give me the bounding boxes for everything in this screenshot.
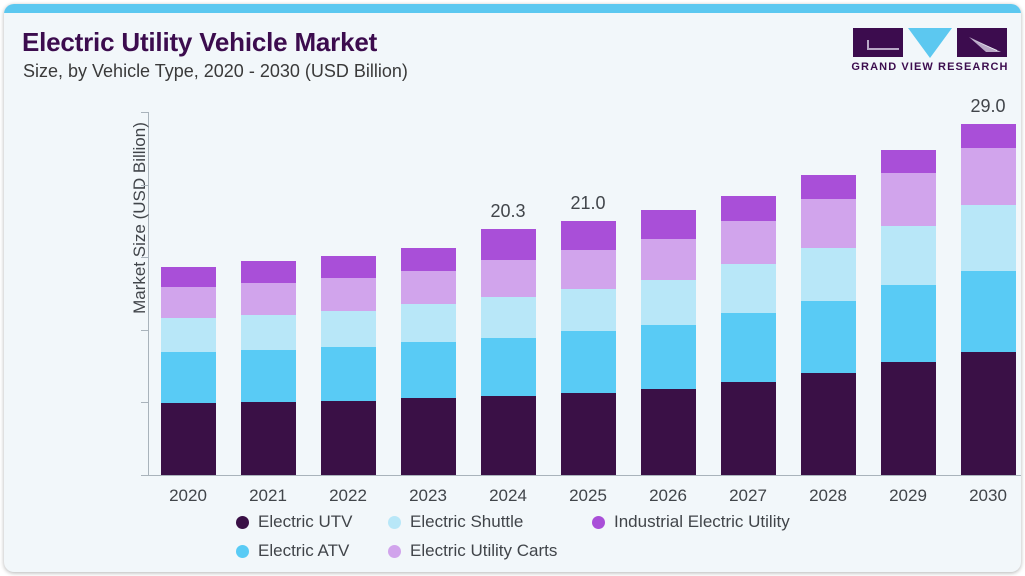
y-tick-mark <box>141 475 148 476</box>
y-tick-mark <box>141 185 148 186</box>
bar-segment[interactable] <box>881 285 936 362</box>
legend-label: Electric UTV <box>258 512 352 532</box>
y-axis-title: Market Size (USD Billion) <box>130 108 150 328</box>
bar-stack[interactable] <box>801 175 856 475</box>
bar-segment[interactable] <box>641 280 696 325</box>
bar-segment[interactable] <box>961 205 1016 270</box>
legend-label: Electric Shuttle <box>410 512 523 532</box>
logo-triangle-icon <box>908 28 952 58</box>
bar-segment[interactable] <box>801 199 856 247</box>
legend-color-swatch-icon <box>388 516 401 529</box>
legend-label: Industrial Electric Utility <box>614 512 790 532</box>
legend-item[interactable]: Electric ATV <box>236 541 349 561</box>
bar-segment[interactable] <box>961 271 1016 352</box>
legend-color-swatch-icon <box>236 516 249 529</box>
bar-segment[interactable] <box>161 403 216 475</box>
bar-stack[interactable] <box>401 248 456 475</box>
logo-arrow-icon <box>957 28 1007 57</box>
chart-plot-area: Market Size (USD Billion) 0.06.012.018.0… <box>148 112 1021 476</box>
x-tick-label: 2029 <box>868 486 948 506</box>
x-tick-label: 2026 <box>628 486 708 506</box>
page-title: Electric Utility Vehicle Market <box>22 27 377 58</box>
bar-segment[interactable] <box>321 347 376 400</box>
bar-segment[interactable] <box>241 350 296 402</box>
bar-segment[interactable] <box>721 196 776 221</box>
bar-segment[interactable] <box>641 210 696 239</box>
bar-segment[interactable] <box>401 248 456 271</box>
top-accent-bar <box>4 4 1021 13</box>
bar-segment[interactable] <box>161 318 216 352</box>
x-tick-label: 2028 <box>788 486 868 506</box>
x-tick-label: 2022 <box>308 486 388 506</box>
bar-segment[interactable] <box>721 313 776 382</box>
bar-segment[interactable] <box>561 221 616 250</box>
bar-segment[interactable] <box>161 352 216 403</box>
x-tick-label: 2027 <box>708 486 788 506</box>
bar-segment[interactable] <box>801 248 856 301</box>
bar-segment[interactable] <box>801 301 856 374</box>
legend-color-swatch-icon <box>592 516 605 529</box>
bar-segment[interactable] <box>961 148 1016 205</box>
logo-text: GRAND VIEW RESEARCH <box>851 61 1009 73</box>
legend-item[interactable]: Electric Utility Carts <box>388 541 557 561</box>
bar-segment[interactable] <box>401 304 456 342</box>
legend-label: Electric Utility Carts <box>410 541 557 561</box>
logo-left-mark-horizontal <box>867 48 899 50</box>
bar-stack[interactable] <box>561 221 616 475</box>
bar-segment[interactable] <box>241 402 296 475</box>
bar-segment[interactable] <box>641 389 696 475</box>
bar-segment[interactable] <box>961 124 1016 148</box>
bar-stack[interactable] <box>161 267 216 475</box>
x-tick-label: 2021 <box>228 486 308 506</box>
bar-segment[interactable] <box>641 239 696 280</box>
bar-segment[interactable] <box>481 396 536 475</box>
legend-item[interactable]: Industrial Electric Utility <box>592 512 790 532</box>
grand-view-research-logo: GRAND VIEW RESEARCH <box>851 28 1009 78</box>
legend-item[interactable]: Electric Shuttle <box>388 512 523 532</box>
bar-segment[interactable] <box>321 401 376 475</box>
bar-segment[interactable] <box>881 150 936 173</box>
page-subtitle: Size, by Vehicle Type, 2020 - 2030 (USD … <box>23 61 408 82</box>
x-tick-label: 2025 <box>548 486 628 506</box>
bar-segment[interactable] <box>721 264 776 312</box>
bar-stack[interactable] <box>241 261 296 475</box>
bar-value-label: 21.0 <box>570 193 605 214</box>
bar-stack[interactable] <box>961 124 1016 475</box>
bar-segment[interactable] <box>241 283 296 314</box>
bar-segment[interactable] <box>401 398 456 475</box>
bar-segment[interactable] <box>481 229 536 259</box>
chart-legend: Electric UTVElectric ShuttleIndustrial E… <box>236 512 836 570</box>
bar-segment[interactable] <box>241 261 296 283</box>
y-tick-mark <box>141 112 148 113</box>
logo-right-rect-icon <box>957 28 1007 57</box>
legend-color-swatch-icon <box>236 545 249 558</box>
bar-segment[interactable] <box>801 175 856 199</box>
legend-label: Electric ATV <box>258 541 349 561</box>
bar-segment[interactable] <box>401 271 456 305</box>
logo-marks <box>851 28 1009 58</box>
bar-segment[interactable] <box>881 173 936 226</box>
x-tick-label: 2020 <box>148 486 228 506</box>
y-tick-mark <box>141 330 148 331</box>
x-tick-label: 2023 <box>388 486 468 506</box>
bar-segment[interactable] <box>721 382 776 475</box>
bar-value-label: 29.0 <box>970 96 1005 117</box>
bar-stack[interactable] <box>641 210 696 475</box>
bar-stack[interactable] <box>481 229 536 475</box>
logo-left-rect-icon <box>853 28 903 57</box>
bar-segment[interactable] <box>961 352 1016 475</box>
bar-segment[interactable] <box>161 287 216 317</box>
bar-segment[interactable] <box>401 342 456 398</box>
bar-segment[interactable] <box>561 289 616 331</box>
y-tick-mark <box>141 257 148 258</box>
bar-stack[interactable] <box>321 256 376 475</box>
bar-segment[interactable] <box>241 315 296 350</box>
x-axis-line <box>148 475 1021 476</box>
legend-color-swatch-icon <box>388 545 401 558</box>
bar-segment[interactable] <box>721 221 776 265</box>
bar-segment[interactable] <box>641 325 696 389</box>
bar-segment[interactable] <box>561 393 616 475</box>
bar-segment[interactable] <box>801 373 856 475</box>
bar-stack[interactable] <box>881 150 936 475</box>
legend-item[interactable]: Electric UTV <box>236 512 352 532</box>
bar-segment[interactable] <box>881 226 936 285</box>
bar-segment[interactable] <box>481 260 536 298</box>
bar-segment[interactable] <box>561 250 616 289</box>
x-tick-label: 2024 <box>468 486 548 506</box>
x-tick-label: 2030 <box>948 486 1021 506</box>
chart-card: Electric Utility Vehicle Market Size, by… <box>4 4 1021 572</box>
bar-segment[interactable] <box>561 331 616 393</box>
bar-segment[interactable] <box>161 267 216 288</box>
bar-stack[interactable] <box>721 196 776 476</box>
y-tick-mark <box>141 402 148 403</box>
bar-value-label: 20.3 <box>490 201 525 222</box>
bar-segment[interactable] <box>321 256 376 278</box>
bar-segment[interactable] <box>321 311 376 347</box>
bar-segment[interactable] <box>481 338 536 396</box>
bar-segment[interactable] <box>881 362 936 475</box>
bar-segment[interactable] <box>481 297 536 338</box>
bar-segment[interactable] <box>321 278 376 311</box>
